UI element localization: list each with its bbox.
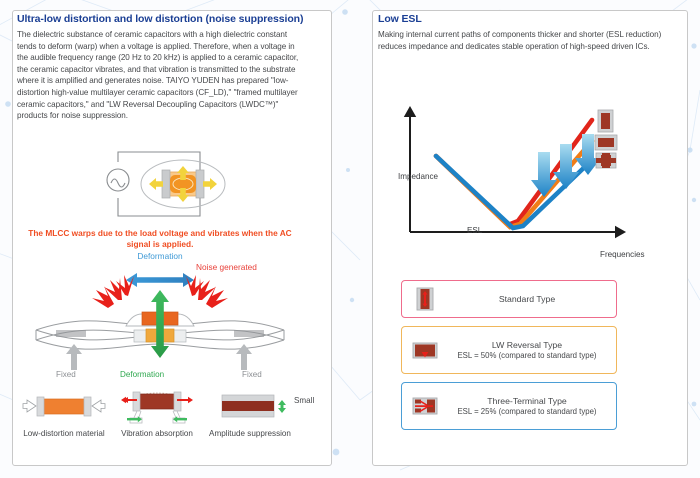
arrow-small-amplitude bbox=[278, 400, 286, 413]
cap-horizontal-stretch-icon bbox=[18, 386, 110, 426]
label-deformation-bottom: Deformation bbox=[120, 370, 164, 379]
solution-low-distortion-material: Low-distortion material bbox=[18, 386, 110, 439]
page-title-left: Ultra-low distortion and low distortion … bbox=[17, 13, 303, 25]
warp-caption: The MLCC warps due to the load voltage a… bbox=[22, 228, 298, 250]
legend-text-block: Three-Terminal Type ESL = 25% (compared … bbox=[448, 395, 616, 418]
solutions-row: Low-distortion material bbox=[18, 386, 308, 454]
solution-caption: Low-distortion material bbox=[18, 428, 110, 439]
right-body-text: Making internal current paths of compone… bbox=[378, 29, 666, 52]
legend-title: Three-Terminal Type bbox=[448, 395, 606, 407]
solution-vibration-absorption: Vibration absorption bbox=[111, 386, 203, 439]
left-body-text: The dielectric substance of ceramic capa… bbox=[17, 29, 303, 122]
legend-title: LW Reversal Type bbox=[448, 339, 606, 351]
mlcc-standard-vertical-icon bbox=[598, 110, 613, 132]
chart-xlabel: Frequencies bbox=[600, 250, 645, 259]
solution-caption: Amplitude suppression bbox=[204, 428, 296, 439]
mlcc-lw-reversal-icon bbox=[402, 339, 448, 361]
legend-title: Standard Type bbox=[448, 293, 606, 305]
mlcc-lw-reversal-icon bbox=[595, 135, 617, 150]
cap-thin-layer-icon bbox=[204, 386, 296, 426]
solution-caption: Vibration absorption bbox=[111, 428, 203, 439]
legend-text-block: LW Reversal Type ESL = 50% (compared to … bbox=[448, 339, 616, 362]
legend-subtitle: ESL = 25% (compared to standard type) bbox=[448, 407, 606, 418]
mlcc-three-terminal-icon bbox=[402, 394, 448, 418]
circuit-diagram-ac-mlcc bbox=[96, 138, 246, 230]
deformation-diagram bbox=[30, 270, 290, 375]
mlcc-three-terminal-icon bbox=[596, 153, 616, 168]
label-fixed-left: Fixed bbox=[56, 370, 76, 379]
legend-standard-type[interactable]: Standard Type bbox=[401, 280, 617, 318]
arrow-deformation-horizontal bbox=[126, 273, 194, 287]
legend-subtitle: ESL = 50% (compared to standard type) bbox=[448, 351, 606, 362]
chart-annotation-esl: ESL bbox=[467, 226, 482, 235]
chart-ylabel: Impedance bbox=[398, 172, 438, 181]
label-fixed-right: Fixed bbox=[242, 370, 262, 379]
legend-lw-reversal-type[interactable]: LW Reversal Type ESL = 50% (compared to … bbox=[401, 326, 617, 374]
mlcc-standard-vertical-icon bbox=[402, 286, 448, 312]
solution-amplitude-suppression: Amplitude suppression bbox=[204, 386, 296, 439]
arrows-green-horizontal bbox=[127, 416, 187, 422]
ac-source-icon bbox=[107, 169, 129, 191]
chart-axes bbox=[406, 108, 625, 237]
label-small: Small bbox=[294, 396, 314, 405]
page-title-right: Low ESL bbox=[378, 13, 422, 25]
esl-impedance-chart bbox=[392, 104, 682, 272]
label-deformation-top: Deformation bbox=[22, 251, 298, 261]
cap-framed-legs-icon bbox=[111, 386, 203, 426]
impedance-reduction-arrows bbox=[531, 134, 601, 197]
legend-three-terminal-type[interactable]: Three-Terminal Type ESL = 25% (compared … bbox=[401, 382, 617, 430]
legend-text-block: Standard Type bbox=[448, 293, 616, 305]
